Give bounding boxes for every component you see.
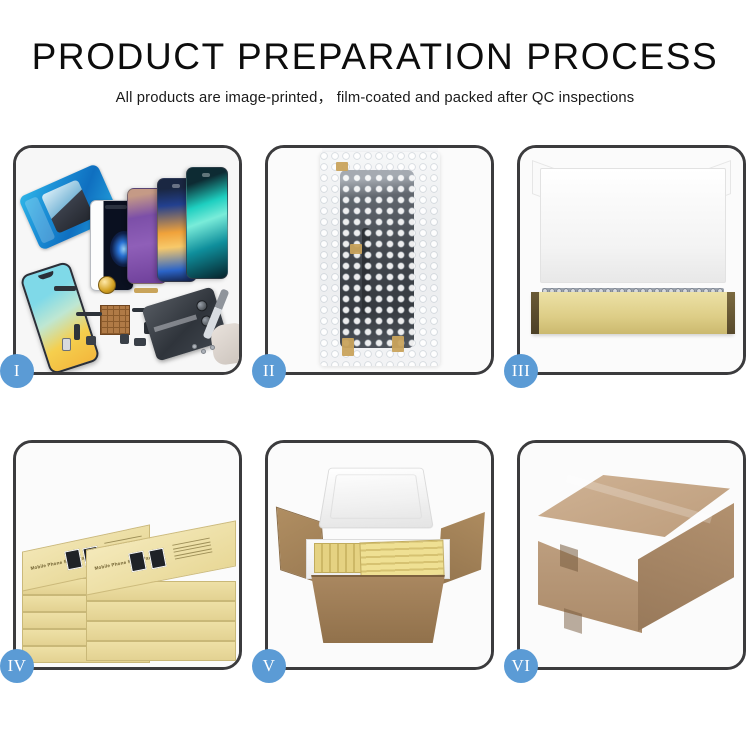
step-badge-6: VI — [504, 649, 538, 683]
process-step-panel-2: II — [265, 145, 494, 375]
process-step-panel-5: V — [265, 440, 494, 670]
flex-cable-1 — [54, 286, 76, 291]
tape-piece-4 — [342, 338, 354, 356]
tape-piece-1 — [336, 162, 348, 171]
bubble-texture — [320, 152, 440, 366]
panel-5-image — [268, 443, 491, 667]
front-box-4 — [86, 641, 236, 661]
panel-6-image — [520, 443, 743, 667]
camera-lens-1 — [195, 299, 209, 313]
process-panel-grid: I II III — [13, 145, 748, 670]
flex-cable-2 — [76, 312, 102, 316]
gold-coil-component — [98, 276, 116, 294]
box-stack: Mobile Phone Spare Parts Mobile Phone Sp… — [22, 469, 239, 661]
copper-grid-component — [100, 305, 130, 335]
panel-2-image — [268, 148, 491, 372]
carton-left-face — [538, 515, 642, 633]
flex-cable-3 — [134, 288, 158, 293]
front-box-2 — [86, 601, 236, 621]
process-step-panel-3: III — [517, 145, 746, 375]
panel-3-image — [520, 148, 743, 372]
process-step-panel-1: I — [13, 145, 242, 375]
screen-notch — [105, 205, 127, 209]
front-box-3 — [86, 621, 236, 641]
step-badge-4: IV — [0, 649, 34, 683]
kraft-box-body — [532, 292, 734, 334]
panel-1-image — [16, 148, 239, 372]
phone-teal — [186, 167, 228, 279]
chip-component-4 — [62, 338, 71, 351]
process-step-panel-4: Mobile Phone Spare Parts Mobile Phone Sp… — [13, 440, 242, 670]
loose-screws — [192, 344, 218, 358]
carton-front-face — [302, 575, 454, 643]
process-step-panel-6: VI — [517, 440, 746, 670]
step-badge-1: I — [0, 354, 34, 388]
housing-strip — [154, 314, 198, 332]
step-badge-2: II — [252, 354, 286, 388]
step-badge-5: V — [252, 649, 286, 683]
chip-component-1 — [86, 336, 96, 345]
page-subtitle: All products are image-printed， film-coa… — [0, 86, 750, 107]
bubble-wrap-bag — [320, 152, 440, 366]
flex-cable-5 — [74, 324, 80, 340]
panel-4-image: Mobile Phone Spare Parts Mobile Phone Sp… — [16, 443, 239, 667]
yellow-boxes-row-2 — [359, 540, 444, 579]
chip-component-3 — [134, 338, 146, 346]
chip-component-2 — [120, 334, 129, 344]
step-badge-3: III — [504, 354, 538, 388]
page-title: PRODUCT PREPARATION PROCESS — [0, 38, 750, 77]
styrofoam-lid — [318, 468, 434, 529]
tape-piece-3 — [392, 336, 404, 352]
page-header: PRODUCT PREPARATION PROCESS All products… — [0, 0, 750, 107]
tape-piece-2 — [350, 244, 362, 254]
white-box-lid — [540, 168, 726, 283]
